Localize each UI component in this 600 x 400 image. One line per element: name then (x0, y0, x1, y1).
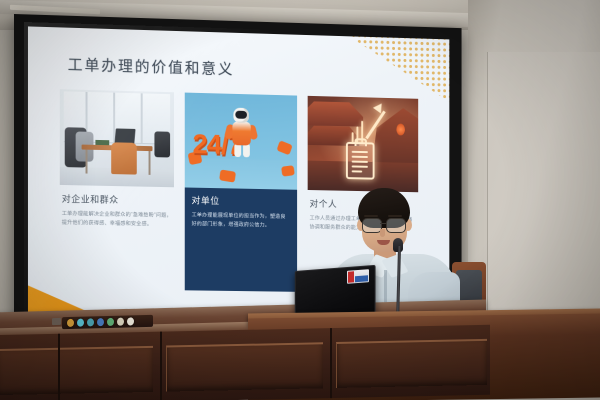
clipboard-line (352, 165, 368, 167)
card-label: 对单位 (192, 194, 291, 209)
robot-leg-right (243, 143, 250, 157)
ctrl-btn-cream[interactable] (117, 318, 124, 326)
lantern-icon (396, 124, 405, 136)
photo-floor (185, 158, 297, 190)
slide-title: 工单办理的价值和意义 (68, 54, 235, 80)
clipboard-line (352, 156, 368, 158)
clipboard-line (352, 161, 368, 163)
twenty-four-seven-photo: 24/7 (185, 93, 297, 190)
podium-panel (166, 342, 323, 391)
eyebrow-left (364, 215, 378, 217)
card-text: 对单位 工单办理能展现单位的担当作为，塑造良好的部门形象，增强政府公信力。 (185, 187, 297, 240)
podium-panel (336, 339, 487, 388)
side-chair (154, 131, 170, 157)
podium-seam (330, 328, 332, 398)
office-desk-photo (60, 89, 174, 187)
glasses-lens-left (362, 218, 382, 233)
books-icon (95, 140, 109, 145)
orange-blob (281, 165, 295, 176)
podium-seam (160, 332, 162, 400)
value-card-organization[interactable]: 24/7 对单位 工单办理能展现单位的担当作为，塑造 (185, 93, 297, 292)
desk-leg (86, 150, 88, 174)
nose (380, 229, 385, 237)
sticker-red-block (348, 271, 354, 282)
robot-body (232, 121, 250, 145)
orange-blob (219, 169, 236, 182)
podium-control-panel[interactable] (62, 315, 153, 329)
eyebrow-right (388, 215, 402, 217)
card-label: 对企业和群众 (62, 192, 172, 207)
card-text: 对企业和群众 工单办理能解决企业和群众的“急难愁盼”问题，提升他们的获得感、幸福… (60, 192, 174, 230)
conference-room-scene: 工单办理的价值和意义 (0, 0, 600, 400)
clipboard-line (352, 170, 362, 172)
podium-label-plate (52, 318, 61, 325)
laptop-lid-sticker (347, 269, 369, 284)
card-body: 工单办理能解决企业和群众的“急难愁盼”问题，提升他们的获得感、幸福感和安全感。 (62, 210, 172, 230)
sticker-blue-block (355, 275, 368, 282)
ctrl-btn-teal[interactable] (87, 318, 94, 326)
ctrl-btn-amber[interactable] (67, 319, 74, 327)
clipboard-line (352, 151, 368, 153)
temple-clipboard-photo (308, 96, 419, 192)
glasses-lens-right (386, 218, 406, 233)
wall-panel (487, 52, 600, 325)
robot-visor (235, 111, 247, 119)
desk-leg (149, 151, 151, 175)
ctrl-btn-blue[interactable] (97, 318, 104, 326)
orange-blob (276, 140, 292, 155)
ctrl-btn-cyan[interactable] (77, 319, 84, 327)
value-card-enterprise[interactable]: 对企业和群众 工单办理能解决企业和群众的“急难愁盼”问题，提升他们的获得感、幸福… (60, 89, 174, 290)
podium-panel (0, 346, 153, 395)
glasses-bridge (380, 223, 386, 224)
ctrl-btn-green[interactable] (107, 318, 114, 326)
podium-front (0, 325, 490, 400)
ctrl-btn-white[interactable] (127, 317, 134, 325)
clipboard-icon (346, 142, 375, 180)
dot-pattern-triangle-icon (334, 26, 450, 105)
podium-seam (58, 334, 60, 400)
orange-chair (111, 142, 137, 174)
window-mullion (141, 93, 143, 143)
card-body: 工单办理能展现单位的担当作为，塑造良好的部门形象，增强政府公信力。 (192, 211, 291, 230)
